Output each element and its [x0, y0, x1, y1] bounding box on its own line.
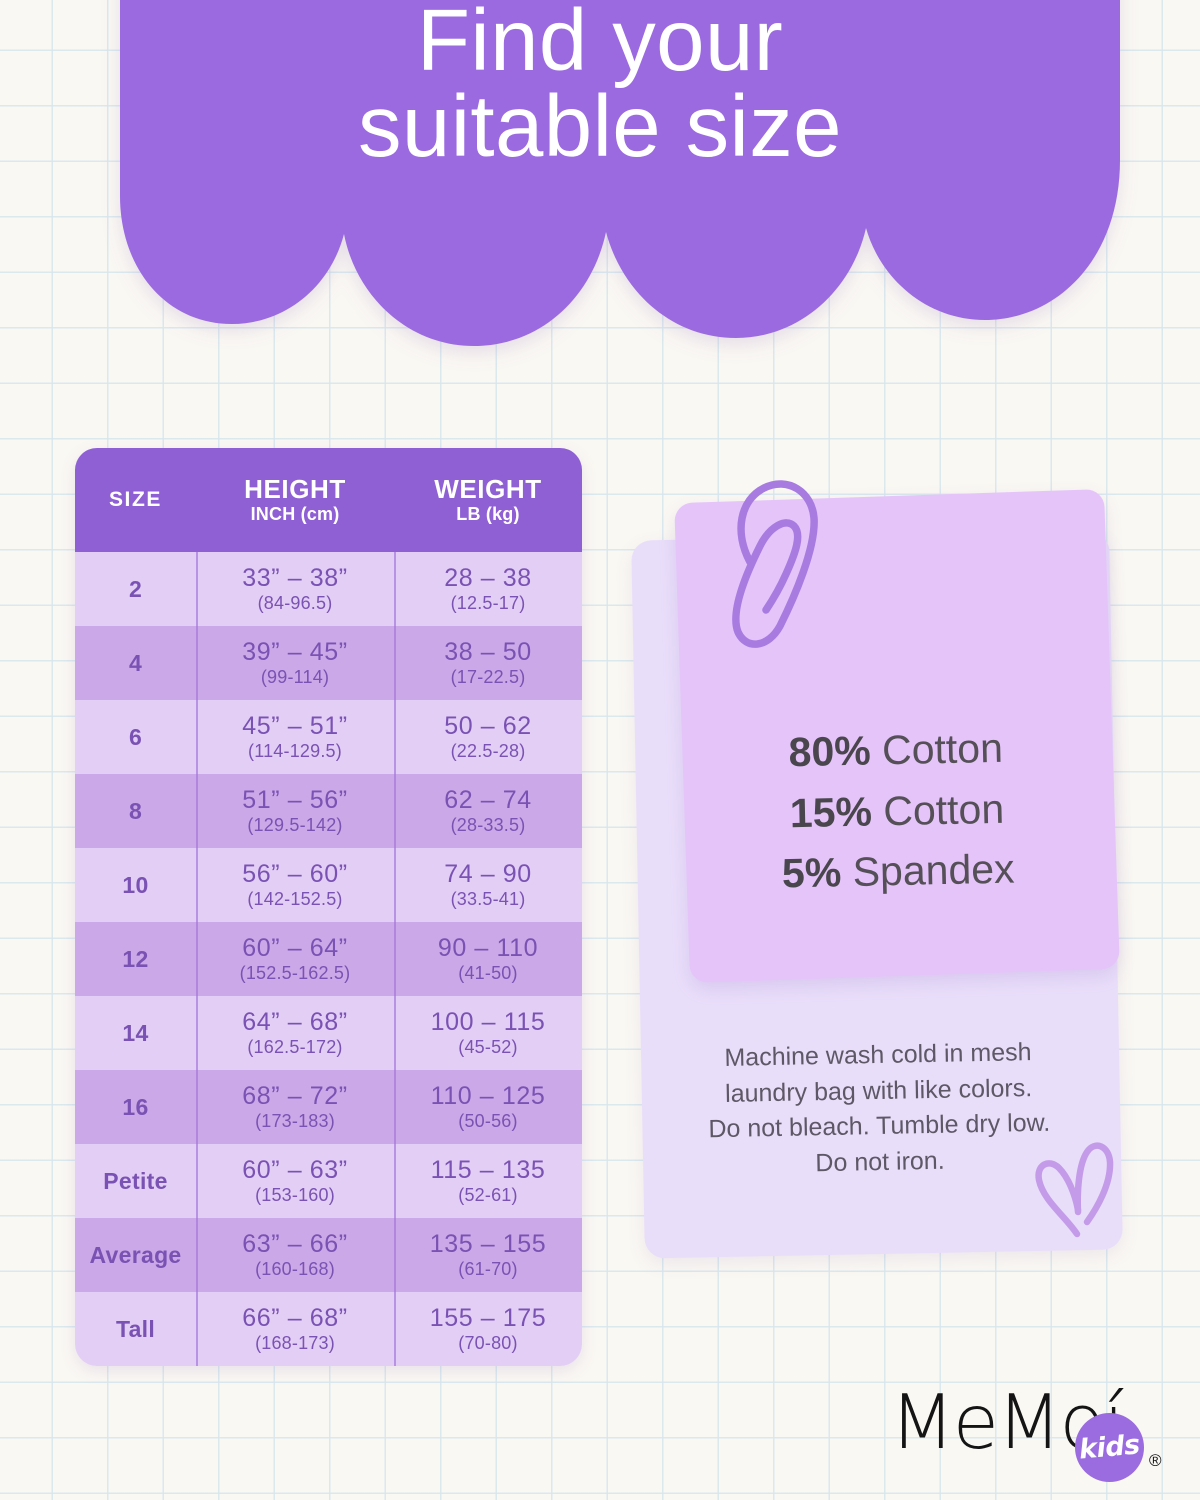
cell-size: 2: [75, 552, 196, 626]
cell-weight-kg: (70-80): [458, 1333, 517, 1354]
column-header-height: HEIGHT INCH (cm): [196, 448, 394, 552]
cell-size-value: 14: [122, 1020, 148, 1047]
fabric-material: Cotton: [882, 725, 1004, 774]
cell-height: 56” – 60”(142-152.5): [196, 848, 394, 922]
column-header-size-label: SIZE: [109, 488, 162, 511]
fabric-material: Spandex: [852, 846, 1015, 895]
table-row: 1260” – 64”(152.5-162.5)90 – 110(41-50): [75, 922, 582, 996]
cell-size: 16: [75, 1070, 196, 1144]
cell-size: Average: [75, 1218, 196, 1292]
table-row: Tall66” – 68”(168-173)155 – 175(70-80): [75, 1292, 582, 1366]
cell-weight-kg: (17-22.5): [451, 667, 526, 688]
cell-weight-kg: (50-56): [458, 1111, 517, 1132]
cell-weight: 110 – 125(50-56): [394, 1070, 582, 1144]
cell-size-value: 8: [129, 798, 142, 825]
cell-height-inch: 39” – 45”: [242, 638, 347, 666]
fabric-material: Cotton: [883, 785, 1005, 834]
column-header-weight: WEIGHT LB (kg): [394, 448, 582, 552]
cell-height-inch: 45” – 51”: [242, 712, 347, 740]
cell-height: 60” – 63”(153-160): [196, 1144, 394, 1218]
cell-height: 66” – 68”(168-173): [196, 1292, 394, 1366]
cell-size: 12: [75, 922, 196, 996]
table-row: 645” – 51”(114-129.5)50 – 62(22.5-28): [75, 700, 582, 774]
cell-weight-lb: 90 – 110: [438, 934, 538, 962]
cell-height-cm: (99-114): [261, 667, 329, 688]
table-row: 1464” – 68”(162.5-172)100 – 115(45-52): [75, 996, 582, 1070]
cell-height-inch: 51” – 56”: [242, 786, 347, 814]
cell-size-value: 16: [122, 1094, 148, 1121]
table-row: Petite60” – 63”(153-160)115 – 135(52-61): [75, 1144, 582, 1218]
cell-weight: 50 – 62(22.5-28): [394, 700, 582, 774]
cell-height-cm: (168-173): [255, 1333, 335, 1354]
cell-weight-lb: 115 – 135: [431, 1156, 546, 1184]
cell-size-value: Tall: [116, 1316, 155, 1343]
cell-weight-lb: 50 – 62: [444, 712, 532, 740]
cell-height-cm: (153-160): [255, 1185, 335, 1206]
cell-size: Petite: [75, 1144, 196, 1218]
table-row: 1056” – 60”(142-152.5)74 – 90(33.5-41): [75, 848, 582, 922]
cell-height-inch: 63” – 66”: [242, 1230, 347, 1258]
cell-height-inch: 60” – 63”: [242, 1156, 347, 1184]
column-header-weight-unit: LB (kg): [456, 504, 519, 525]
paperclip-icon: [720, 470, 850, 660]
header-cloud-banner: Find your suitable size: [0, 0, 1200, 400]
table-row: 233” – 38”(84-96.5)28 – 38(12.5-17): [75, 552, 582, 626]
cell-weight: 74 – 90(33.5-41): [394, 848, 582, 922]
cell-size: 10: [75, 848, 196, 922]
column-header-weight-label: WEIGHT: [434, 475, 542, 504]
cell-weight-lb: 155 – 175: [430, 1304, 547, 1332]
cell-weight: 100 – 115(45-52): [394, 996, 582, 1070]
fabric-composition-list: 80% Cotton15% Cotton5% Spandex: [680, 716, 1114, 907]
cell-height-cm: (160-168): [255, 1259, 335, 1280]
page-title: Find your suitable size: [0, 0, 1200, 170]
cell-height: 60” – 64”(152.5-162.5): [196, 922, 394, 996]
column-header-height-label: HEIGHT: [244, 475, 346, 504]
cell-size: 6: [75, 700, 196, 774]
cell-height-inch: 66” – 68”: [242, 1304, 347, 1332]
cell-size: Tall: [75, 1292, 196, 1366]
table-row: Average63” – 66”(160-168)135 – 155(61-70…: [75, 1218, 582, 1292]
cell-weight: 115 – 135(52-61): [394, 1144, 582, 1218]
cell-size-value: 6: [129, 724, 142, 751]
table-row: 1668” – 72”(173-183)110 – 125(50-56): [75, 1070, 582, 1144]
logo-kids-badge-label: kids: [1078, 1429, 1141, 1465]
cell-size: 4: [75, 626, 196, 700]
cell-height: 45” – 51”(114-129.5): [196, 700, 394, 774]
cell-height-cm: (114-129.5): [248, 741, 342, 762]
notes-panel: 80% Cotton15% Cotton5% Spandex Machine w…: [620, 470, 1140, 1280]
cell-height-cm: (173-183): [255, 1111, 335, 1132]
cell-weight: 90 – 110(41-50): [394, 922, 582, 996]
column-header-height-unit: INCH (cm): [251, 504, 340, 525]
brand-logo: MeMoí kids ®: [890, 1385, 1170, 1485]
cell-weight-lb: 62 – 74: [444, 786, 532, 814]
cell-height: 64” – 68”(162.5-172): [196, 996, 394, 1070]
cell-height-cm: (129.5-142): [247, 815, 342, 836]
logo-kids-badge: kids: [1075, 1413, 1144, 1482]
cell-size-value: 10: [122, 872, 148, 899]
cell-height: 51” – 56”(129.5-142): [196, 774, 394, 848]
cell-weight-kg: (22.5-28): [451, 741, 526, 762]
cell-weight-lb: 135 – 155: [430, 1230, 547, 1258]
cell-weight-kg: (28-33.5): [451, 815, 526, 836]
cell-size: 8: [75, 774, 196, 848]
cell-size-value: 12: [122, 946, 148, 973]
fabric-line: 80% Cotton: [680, 716, 1111, 786]
cell-height: 39” – 45”(99-114): [196, 626, 394, 700]
cell-height-inch: 56” – 60”: [242, 860, 347, 888]
cell-weight-kg: (33.5-41): [451, 889, 526, 910]
cell-height-inch: 64” – 68”: [242, 1008, 347, 1036]
cell-size-value: Petite: [103, 1168, 167, 1195]
cell-weight: 155 – 175(70-80): [394, 1292, 582, 1366]
cell-height-cm: (152.5-162.5): [240, 963, 351, 984]
size-chart-table: SIZE HEIGHT INCH (cm) WEIGHT LB (kg) 233…: [75, 448, 582, 1366]
cell-weight-lb: 38 – 50: [444, 638, 532, 666]
cell-weight: 62 – 74(28-33.5): [394, 774, 582, 848]
fabric-line: 5% Spandex: [683, 837, 1114, 907]
cell-height-cm: (142-152.5): [247, 889, 342, 910]
heart-doodle-icon: [1025, 1138, 1130, 1243]
cell-height-inch: 60” – 64”: [242, 934, 347, 962]
cell-weight: 38 – 50(17-22.5): [394, 626, 582, 700]
fabric-percent: 15%: [789, 788, 872, 836]
cell-weight-kg: (41-50): [458, 963, 517, 984]
cell-height: 33” – 38”(84-96.5): [196, 552, 394, 626]
cell-height: 68” – 72”(173-183): [196, 1070, 394, 1144]
cell-weight-kg: (12.5-17): [451, 593, 526, 614]
cell-weight-lb: 74 – 90: [444, 860, 532, 888]
cell-weight-kg: (45-52): [458, 1037, 517, 1058]
cell-size-value: Average: [89, 1242, 181, 1269]
cell-weight-lb: 100 – 115: [431, 1008, 546, 1036]
table-row: 439” – 45”(99-114)38 – 50(17-22.5): [75, 626, 582, 700]
cell-weight: 28 – 38(12.5-17): [394, 552, 582, 626]
fabric-percent: 5%: [782, 850, 842, 897]
fabric-line: 15% Cotton: [681, 776, 1112, 846]
table-header-row: SIZE HEIGHT INCH (cm) WEIGHT LB (kg): [75, 448, 582, 552]
fabric-percent: 80%: [788, 728, 871, 776]
cell-weight: 135 – 155(61-70): [394, 1218, 582, 1292]
table-body: 233” – 38”(84-96.5)28 – 38(12.5-17)439” …: [75, 552, 582, 1366]
cell-height: 63” – 66”(160-168): [196, 1218, 394, 1292]
table-row: 851” – 56”(129.5-142)62 – 74(28-33.5): [75, 774, 582, 848]
cell-weight-kg: (52-61): [458, 1185, 517, 1206]
cell-size-value: 4: [129, 650, 142, 677]
cell-size: 14: [75, 996, 196, 1070]
cloud-shape-icon: [0, 0, 1200, 400]
registered-trademark-icon: ®: [1149, 1451, 1162, 1471]
cell-size-value: 2: [129, 576, 142, 603]
cell-weight-kg: (61-70): [458, 1259, 517, 1280]
cell-height-cm: (162.5-172): [247, 1037, 342, 1058]
cell-height-inch: 68” – 72”: [242, 1082, 347, 1110]
cell-weight-lb: 28 – 38: [444, 564, 532, 592]
cell-weight-lb: 110 – 125: [431, 1082, 546, 1110]
cell-height-cm: (84-96.5): [258, 593, 333, 614]
cell-height-inch: 33” – 38”: [242, 564, 347, 592]
column-header-size: SIZE: [75, 448, 196, 552]
